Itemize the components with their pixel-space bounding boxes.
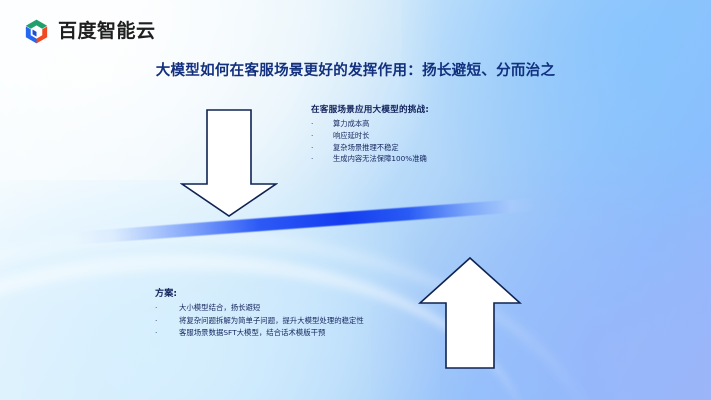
list-item: · 复杂场景推理不稳定	[311, 142, 429, 154]
solution-heading: 方案:	[155, 286, 364, 299]
arrow-up-icon	[418, 256, 522, 370]
list-item-label: 将复杂问题拆解为简单子问题，提升大模型处理的稳定性	[179, 315, 364, 328]
list-item-label: 算力成本高	[333, 118, 369, 130]
solution-block: 方案: · 大小模型结合，扬长避短 · 将复杂问题拆解为简单子问题，提升大模型处…	[155, 286, 364, 340]
list-item: · 大小模型结合，扬长避短	[155, 302, 364, 315]
solution-list: · 大小模型结合，扬长避短 · 将复杂问题拆解为简单子问题，提升大模型处理的稳定…	[155, 302, 364, 340]
list-item: · 客服场景数据SFT大模型，结合话术模版干预	[155, 327, 364, 340]
list-item-label: 响应延时长	[333, 130, 369, 142]
list-item: · 响应延时长	[311, 130, 429, 142]
diagonal-gradient-bar	[72, 198, 540, 245]
page-title: 大模型如何在客服场景更好的发挥作用：扬长避短、分而治之	[0, 59, 711, 80]
bullet-marker-icon: ·	[311, 130, 333, 142]
list-item: · 将复杂问题拆解为简单子问题，提升大模型处理的稳定性	[155, 315, 364, 328]
list-item-label: 生成内容无法保障100%准确	[333, 153, 427, 165]
list-item-label: 大小模型结合，扬长避短	[179, 302, 260, 315]
challenges-list: · 算力成本高 · 响应延时长 · 复杂场景推理不稳定 · 生成内容无法保障10…	[311, 118, 429, 165]
list-item: · 生成内容无法保障100%准确	[311, 153, 429, 165]
bullet-marker-icon: ·	[155, 315, 179, 327]
bullet-marker-icon: ·	[155, 327, 179, 339]
bullet-marker-icon: ·	[311, 142, 333, 154]
list-item: · 算力成本高	[311, 118, 429, 130]
challenges-block: 在客服场景应用大模型的挑战: · 算力成本高 · 响应延时长 · 复杂场景推理不…	[311, 103, 429, 165]
list-item-label: 客服场景数据SFT大模型，结合话术模版干预	[179, 327, 325, 340]
arrow-down-icon	[180, 108, 278, 218]
brand-logo: 百度智能云	[22, 17, 156, 46]
challenges-heading: 在客服场景应用大模型的挑战:	[311, 103, 429, 115]
list-item-label: 复杂场景推理不稳定	[333, 142, 399, 154]
bullet-marker-icon: ·	[311, 118, 333, 130]
background-glow-top-right	[401, 0, 711, 230]
brand-name: 百度智能云	[58, 22, 156, 41]
baidu-cloud-hexagon-logo-icon	[22, 17, 51, 46]
bullet-marker-icon: ·	[155, 302, 179, 314]
bullet-marker-icon: ·	[311, 153, 333, 165]
slide-canvas: 百度智能云 大模型如何在客服场景更好的发挥作用：扬长避短、分而治之 在客服场景应…	[0, 0, 711, 400]
